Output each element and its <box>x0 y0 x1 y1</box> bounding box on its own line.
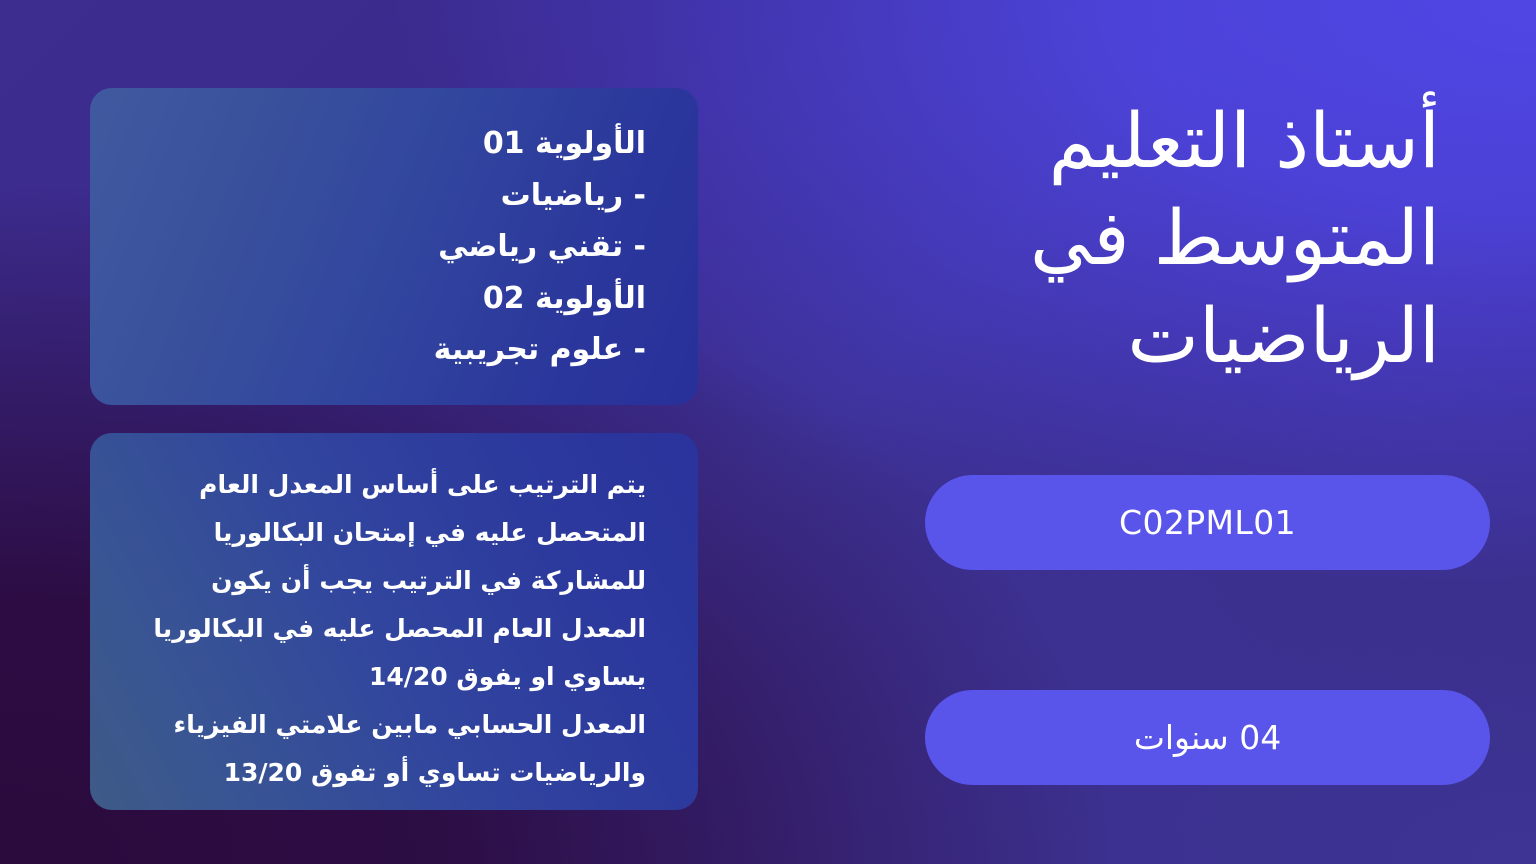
priority-line: - تقني رياضي <box>130 221 646 273</box>
priority-line: - رياضيات <box>130 170 646 222</box>
priority-line: - علوم تجريبية <box>130 324 646 376</box>
priority-line: الأولوية 01 <box>130 118 646 170</box>
condition-line: يساوي او يفوق 14/20 <box>130 653 646 701</box>
priority-line: الأولوية 02 <box>130 273 646 325</box>
code-badge: C02PML01 <box>925 475 1490 570</box>
code-badge-label: C02PML01 <box>1119 503 1296 542</box>
duration-badge: 04 سنوات <box>925 690 1490 785</box>
duration-badge-label: 04 سنوات <box>1134 718 1281 757</box>
condition-line: يتم الترتيب على أساس المعدل العام <box>130 461 646 509</box>
conditions-card: يتم الترتيب على أساس المعدل العام المتحص… <box>90 433 698 810</box>
condition-line: المعدل العام المحصل عليه في البكالوريا <box>130 605 646 653</box>
condition-line: للمشاركة في الترتيب يجب أن يكون <box>130 557 646 605</box>
condition-line: المعدل الحسابي مابين علامتي الفيزياء <box>130 701 646 749</box>
slide-root: الأولوية 01 - رياضيات - تقني رياضي الأول… <box>0 0 1536 864</box>
priorities-card: الأولوية 01 - رياضيات - تقني رياضي الأول… <box>90 88 698 405</box>
condition-line: والرياضيات تساوي أو تفوق 13/20 <box>130 749 646 797</box>
page-title: أستاذ التعليم المتوسط في الرياضيات <box>820 92 1440 384</box>
condition-line: المتحصل عليه في إمتحان البكالوريا <box>130 509 646 557</box>
